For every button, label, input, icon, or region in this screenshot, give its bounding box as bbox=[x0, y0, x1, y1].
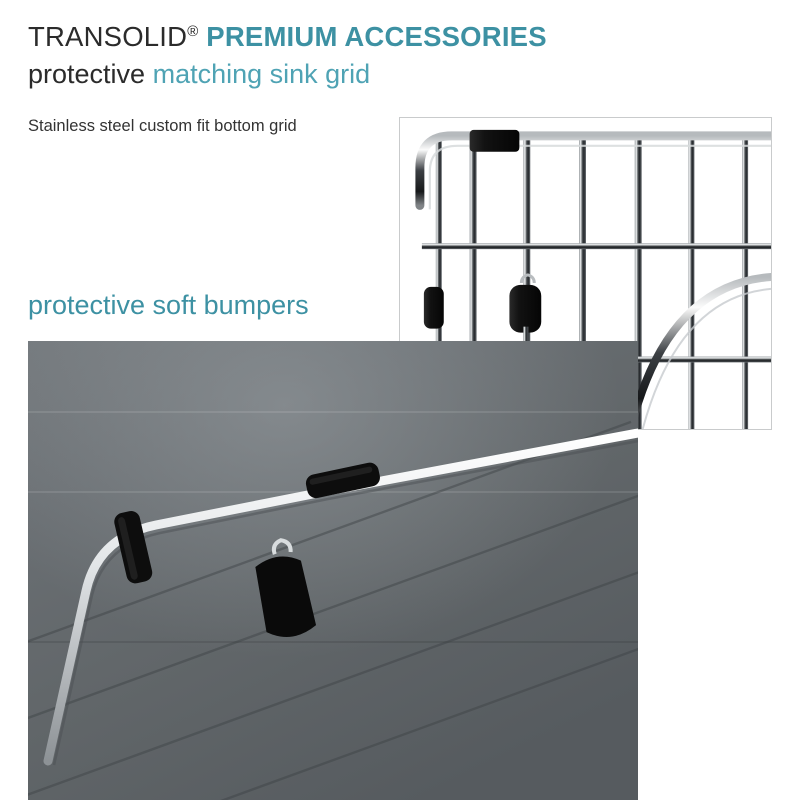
soft-bumpers-callout-label: protective soft bumpers bbox=[28, 288, 309, 322]
sink-with-grid-photo bbox=[28, 341, 638, 800]
page-subtitle-accent: matching sink grid bbox=[153, 59, 371, 89]
sink-with-grid-illustration bbox=[28, 341, 638, 800]
page-title-accent: PREMIUM ACCESSORIES bbox=[206, 21, 546, 52]
product-description: Stainless steel custom fit bottom grid bbox=[28, 114, 358, 139]
product-marketing-image: TRANSOLID® PREMIUM ACCESSORIES protectiv… bbox=[0, 0, 800, 800]
page-title: TRANSOLID® PREMIUM ACCESSORIES bbox=[28, 20, 547, 54]
brand-name: TRANSOLID bbox=[28, 21, 187, 52]
page-subtitle-dark: protective bbox=[28, 59, 145, 89]
page-subtitle: protective matching sink grid bbox=[28, 57, 370, 91]
registered-trademark-icon: ® bbox=[187, 23, 198, 40]
